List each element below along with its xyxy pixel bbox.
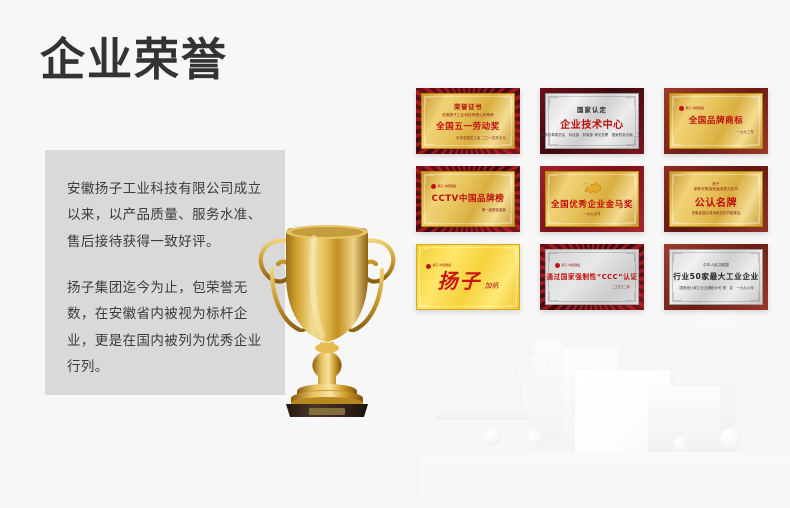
corner-ornament-icon <box>750 253 759 262</box>
corner-ornament-icon <box>626 292 635 301</box>
plaque-main-suffix: 加帆 <box>485 281 499 291</box>
plaque-sub: 荣获安徽省首届消费文化节 <box>694 187 738 192</box>
plaque-golden-horse-award[interactable]: 全国优秀企业金马奖 一九九五年 <box>540 166 644 232</box>
corner-ornament-icon <box>502 214 511 223</box>
plaque-face: 扬子 中国驰名 CCTV中国品牌榜 第一届颁奖盛典 <box>421 171 515 227</box>
bg-floor <box>420 452 790 508</box>
bg-sphere <box>720 428 742 450</box>
bg-cube-side <box>648 386 720 454</box>
intro-paragraph-1: 安徽扬子工业科技有限公司成立以来，以产品质量、服务水准、售后接待获得一致好评。 <box>67 176 263 255</box>
corner-ornament-icon <box>502 97 511 106</box>
corner-ornament-icon <box>549 175 558 184</box>
plaque-national-tech-center[interactable]: 国家认定 企业技术中心 国家发展和改革委员会 科技部 财政部 海关总署 国家税务… <box>540 88 644 154</box>
bg-slab <box>436 406 531 420</box>
plaque-head: 国家认定 <box>577 104 607 114</box>
corner-ornament-icon <box>549 253 558 262</box>
plaque-main-title: 企业技术中心 <box>560 116 624 131</box>
winged-horse-icon <box>581 180 603 196</box>
brand-logo-text: 扬子 中国驰名 <box>562 264 581 267</box>
corner-ornament-icon <box>626 97 635 106</box>
brand-dot-icon <box>426 264 431 269</box>
plaque-ccc-certification[interactable]: 扬子 中国驰名 通过国家强制性“CCC”认证 二〇〇二年 <box>540 244 644 310</box>
corner-ornament-icon <box>673 214 682 223</box>
plaque-footer: 国家统计局工业交通统计司 颁 发 一九九六年 <box>680 286 754 291</box>
plaque-face: 扬子 中国驰名 通过国家强制性“CCC”认证 二〇〇二年 <box>545 249 639 305</box>
brand-dot-icon <box>679 106 684 111</box>
corner-ornament-icon <box>549 97 558 106</box>
corner-ornament-icon <box>425 175 434 184</box>
plaque-footer: 安徽省暨区域消费文化节组委会 <box>692 211 741 216</box>
corner-ornament-icon <box>502 175 511 184</box>
plaque-footer: 第一届颁奖盛典 <box>482 208 506 213</box>
plaque-face: 中华人民共和国 行业50家最大工业企业 国家统计局工业交通统计司 颁 发 一九九… <box>669 249 763 305</box>
bg-sphere <box>527 430 543 446</box>
plaque-footer: 国家发展和改革委员会 科技部 财政部 海关总署 国家税务总局 二〇一三年 <box>540 133 644 138</box>
corner-ornament-icon <box>750 292 759 301</box>
bg-ring <box>510 347 555 392</box>
plaque-sub: 安徽扬子工业科技有限公司荣获 <box>442 113 494 118</box>
corner-ornament-icon <box>673 136 682 145</box>
bg-column-tall <box>697 308 735 454</box>
bg-column-mid <box>563 348 618 458</box>
corner-ornament-icon <box>425 136 434 145</box>
bg-column-thin <box>533 340 563 452</box>
corner-ornament-icon <box>626 214 635 223</box>
plaque-national-brand-trademark[interactable]: 扬子 中国驰名 全国品牌商标 一九九三年 <box>664 88 768 154</box>
brand-dot-icon <box>431 184 436 189</box>
brand-logo: 扬子 中国驰名 <box>426 264 451 269</box>
corner-ornament-icon <box>425 214 434 223</box>
plaque-main-title: CCTV中国品牌榜 <box>432 192 505 204</box>
brand-dot-icon <box>555 263 560 268</box>
plaque-footer: 中华全国总工会 二〇一四年五月 <box>456 136 506 141</box>
bg-sphere <box>673 437 689 453</box>
brand-logo: 扬子 中国驰名 <box>555 263 580 268</box>
plaque-yangzi-gold[interactable]: 扬子 中国驰名 扬子 加帆 <box>416 244 520 310</box>
corner-ornament-icon <box>626 253 635 262</box>
header: 企业荣誉 <box>40 36 248 82</box>
trophy-icon <box>252 212 402 417</box>
corner-ornament-icon <box>507 248 516 257</box>
plaque-head: 中华人民共和国 <box>703 263 729 268</box>
brand-logo-text: 扬子 中国驰名 <box>686 107 705 110</box>
corner-ornament-icon <box>549 214 558 223</box>
brand-logo-text: 扬子 中国驰名 <box>438 185 457 188</box>
corner-ornament-icon <box>673 97 682 106</box>
intro-paragraph-2: 扬子集团迄今为止，包荣誉无数，在安徽省内被视为标杆企业，更是在国内被列为优秀企业… <box>67 275 263 380</box>
corner-ornament-icon <box>750 97 759 106</box>
plaque-face: 全国优秀企业金马奖 一九九五年 <box>545 171 639 227</box>
plaque-head: 荣誉证书 <box>454 101 482 111</box>
corner-ornament-icon <box>420 297 429 306</box>
brand-logo: 扬子 中国驰名 <box>431 184 456 189</box>
corner-ornament-icon <box>425 97 434 106</box>
plaque-recognized-famous-brand[interactable]: 扬子 荣获安徽省首届消费文化节 公认名牌 安徽省暨区域消费文化节组委会 <box>664 166 768 232</box>
brand-logo: 扬子 中国驰名 <box>679 106 704 111</box>
corner-ornament-icon <box>420 248 429 257</box>
plaque-face: 扬子 荣获安徽省首届消费文化节 公认名牌 安徽省暨区域消费文化节组委会 <box>669 171 763 227</box>
brand-logo-text: 扬子 中国驰名 <box>433 264 452 267</box>
plaque-main-title: 全国五一劳动奖 <box>436 120 500 132</box>
corner-ornament-icon <box>507 297 516 306</box>
plaque-footer: 一九九五年 <box>583 212 600 217</box>
plaque-footer: 二〇〇二年 <box>613 285 630 290</box>
corner-ornament-icon <box>750 136 759 145</box>
corner-ornament-icon <box>673 175 682 184</box>
plaque-footer: 一九九三年 <box>737 130 754 135</box>
corner-ornament-icon <box>673 292 682 301</box>
plaque-face: 扬子 中国驰名 扬子 加帆 <box>416 244 520 310</box>
plaque-main-title: 行业50家最大工业企业 <box>673 271 759 282</box>
plaque-top-50-industrial[interactable]: 中华人民共和国 行业50家最大工业企业 国家统计局工业交通统计司 颁 发 一九九… <box>664 244 768 310</box>
plaque-honor-certificate[interactable]: 荣誉证书 安徽扬子工业科技有限公司荣获 全国五一劳动奖 中华全国总工会 二〇一四… <box>416 88 520 154</box>
plaque-face: 扬子 中国驰名 全国品牌商标 一九九三年 <box>669 93 763 149</box>
plaque-main-title: 全国品牌商标 <box>689 114 744 126</box>
corner-ornament-icon <box>549 292 558 301</box>
plaque-main-row: 扬子 加帆 <box>438 271 499 291</box>
plaque-main-title: 公认名牌 <box>695 194 737 209</box>
page-title: 企业荣誉 <box>40 36 248 83</box>
corner-ornament-icon <box>673 253 682 262</box>
plaque-main-title: 扬子 <box>438 271 482 291</box>
corner-ornament-icon <box>750 175 759 184</box>
bg-wire-curve <box>520 378 572 436</box>
plaque-face: 荣誉证书 安徽扬子工业科技有限公司荣获 全国五一劳动奖 中华全国总工会 二〇一四… <box>421 93 515 149</box>
plaque-main-title: 通过国家强制性“CCC”认证 <box>546 271 637 281</box>
plaque-cctv-china-brand-list[interactable]: 扬子 中国驰名 CCTV中国品牌榜 第一届颁奖盛典 <box>416 166 520 232</box>
plaque-face: 国家认定 企业技术中心 国家发展和改革委员会 科技部 财政部 海关总署 国家税务… <box>545 93 639 149</box>
plaque-main-title: 全国优秀企业金马奖 <box>551 198 633 210</box>
bg-cube-front <box>575 370 670 465</box>
bg-sphere <box>484 428 501 445</box>
corner-ornament-icon <box>626 175 635 184</box>
corner-ornament-icon <box>750 214 759 223</box>
company-intro-panel: 安徽扬子工业科技有限公司成立以来，以产品质量、服务水准、售后接待获得一致好评。 … <box>45 150 285 395</box>
enterprise-honor-page: 企业荣誉 安徽扬子工业科技有限公司成立以来，以产品质量、服务水准、售后接待获得一… <box>0 0 790 508</box>
honor-plaque-grid: 荣誉证书 安徽扬子工业科技有限公司荣获 全国五一劳动奖 中华全国总工会 二〇一四… <box>416 88 768 310</box>
